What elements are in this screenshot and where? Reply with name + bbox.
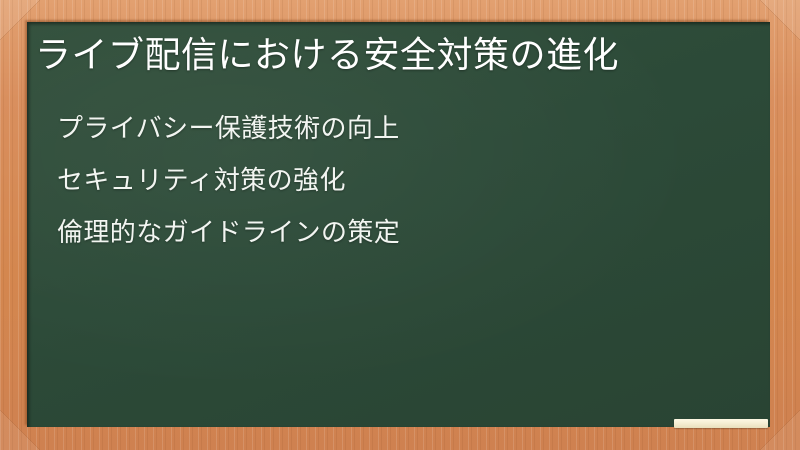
chalk-stick bbox=[674, 419, 768, 428]
list-item: セキュリティ対策の強化 bbox=[57, 154, 747, 206]
list-item: プライバシー保護技術の向上 bbox=[57, 102, 747, 154]
slide-title: ライブ配信における安全対策の進化 bbox=[35, 32, 755, 78]
list-item: 倫理的なガイドラインの策定 bbox=[57, 206, 747, 258]
chalkboard-slide: ライブ配信における安全対策の進化 プライバシー保護技術の向上 セキュリティ対策の… bbox=[0, 0, 800, 450]
chalkboard-content: ライブ配信における安全対策の進化 プライバシー保護技術の向上 セキュリティ対策の… bbox=[27, 22, 770, 427]
bullet-list: プライバシー保護技術の向上 セキュリティ対策の強化 倫理的なガイドラインの策定 bbox=[57, 102, 747, 258]
chalkboard-surface: ライブ配信における安全対策の進化 プライバシー保護技術の向上 セキュリティ対策の… bbox=[27, 22, 770, 427]
